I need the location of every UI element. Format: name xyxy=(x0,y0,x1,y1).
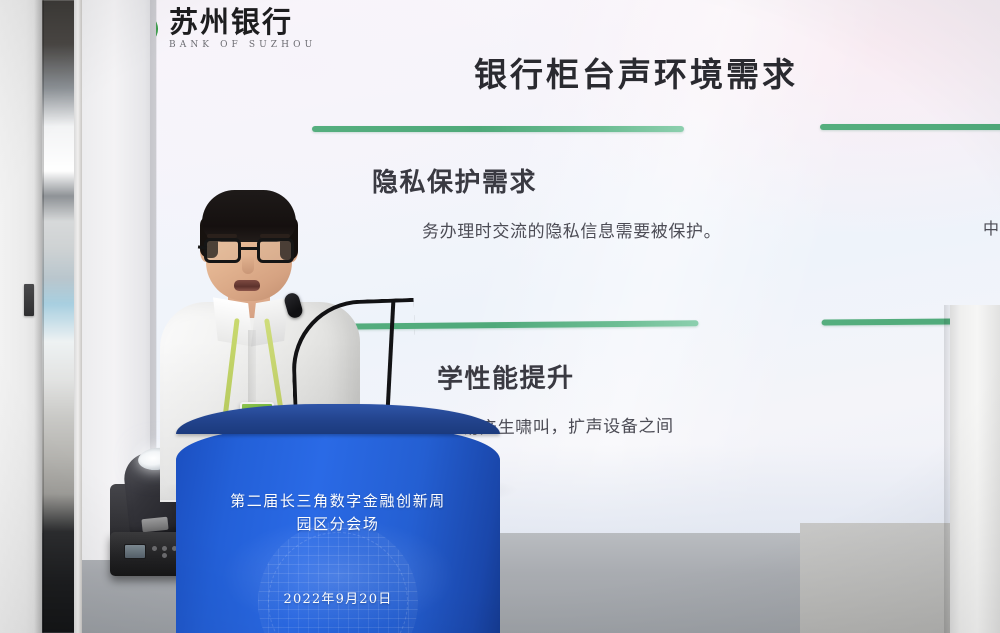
card-divider-bar xyxy=(820,124,1000,130)
left-wall-shadow xyxy=(34,0,44,633)
podium-front-panel: 第二届长三角数字金融创新周 园区分会场 2022年9月20日 xyxy=(176,426,500,633)
stage-light-display xyxy=(124,544,146,559)
brand-name-cn: 苏州银行 xyxy=(169,8,316,37)
card-title: 隐私保护需求 xyxy=(372,162,684,199)
card-elderly-hearing: 老年人听力减 中老年客户增多， xyxy=(820,124,1000,239)
wall-switch-panel[interactable] xyxy=(24,284,34,316)
speaker-nose xyxy=(242,256,254,274)
door-edge xyxy=(74,0,82,633)
right-pillar xyxy=(950,305,1000,633)
glasses-lens-right xyxy=(257,238,294,263)
podium-top-lip xyxy=(176,404,500,434)
card-body: 务办理时交流的隐私信息需要被保护。 xyxy=(422,217,684,242)
slide-title: 银行柜台声环境需求 xyxy=(152,48,1000,96)
card-divider-bar xyxy=(312,126,684,132)
stage-light-plate xyxy=(141,517,168,533)
card-title: 学性能提升 xyxy=(437,356,699,396)
background-room-gap xyxy=(42,0,78,633)
podium-event-line2: 园区分会场 xyxy=(176,513,500,536)
presentation-photo: 银行柜台声环境需求 隐私保护需求 务办理时交流的隐私信息需要被保护。 老年人听力… xyxy=(0,0,1000,633)
brand-name-en: BANK OF SUZHOU xyxy=(169,41,316,50)
podium-event-title: 第二届长三角数字金融创新周 园区分会场 xyxy=(176,490,500,537)
podium-event-line1: 第二届长三角数字金融创新周 xyxy=(176,490,500,513)
glasses-bridge xyxy=(241,247,257,250)
podium-event-date: 2022年9月20日 xyxy=(176,588,500,607)
podium: 第二届长三角数字金融创新周 园区分会场 2022年9月20日 xyxy=(176,404,500,633)
card-body: 中老年客户增多， xyxy=(983,215,1000,239)
globe-graphic-icon xyxy=(258,522,418,633)
glasses-lens-left xyxy=(204,238,241,263)
speaker-mouth xyxy=(234,280,260,291)
